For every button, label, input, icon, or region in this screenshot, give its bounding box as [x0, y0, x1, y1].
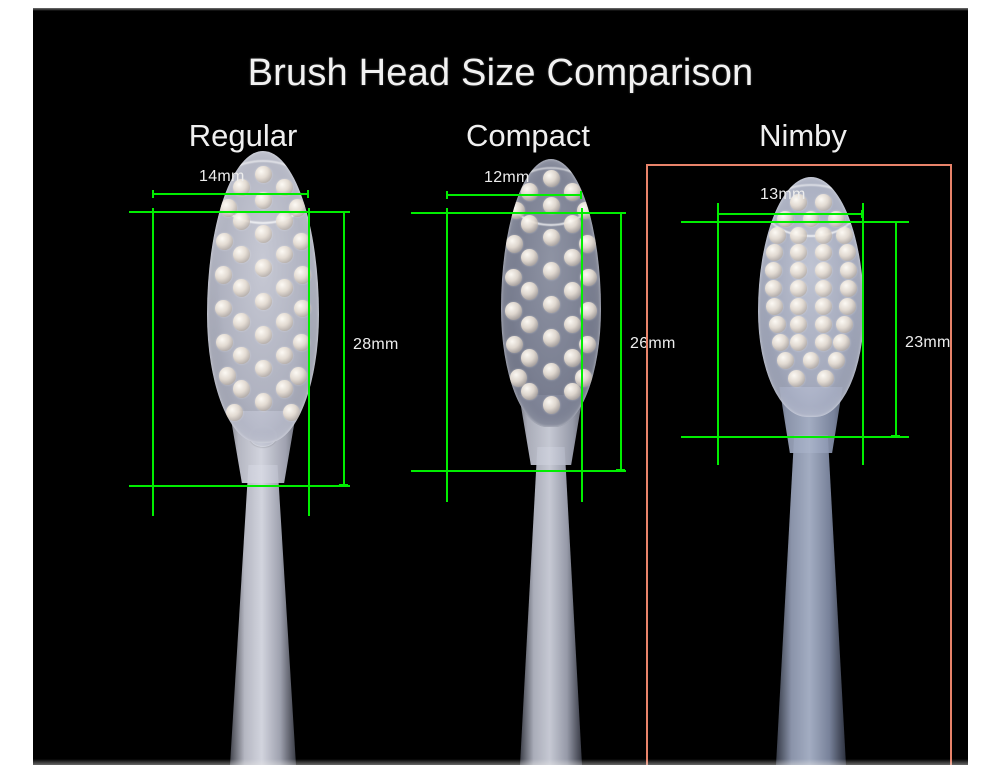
brush-head-nimby [758, 177, 864, 417]
brush-head-regular [207, 151, 319, 443]
figure-root: Brush Head Size Comparison Regular Compa… [0, 0, 1000, 773]
bristle-tufts-compact [501, 159, 601, 427]
brush-neck-regular [230, 465, 296, 765]
brush-neck-nimby [776, 435, 846, 765]
toothbrush-regular [153, 8, 373, 765]
bristle-tufts-regular [207, 151, 319, 443]
brush-neck-compact [520, 447, 582, 765]
bristle-tufts-nimby [758, 177, 864, 417]
brush-head-compact [501, 159, 601, 427]
photo-plate: Brush Head Size Comparison Regular Compa… [33, 8, 968, 765]
toothbrush-compact [441, 8, 661, 765]
toothbrush-nimby [701, 8, 921, 765]
